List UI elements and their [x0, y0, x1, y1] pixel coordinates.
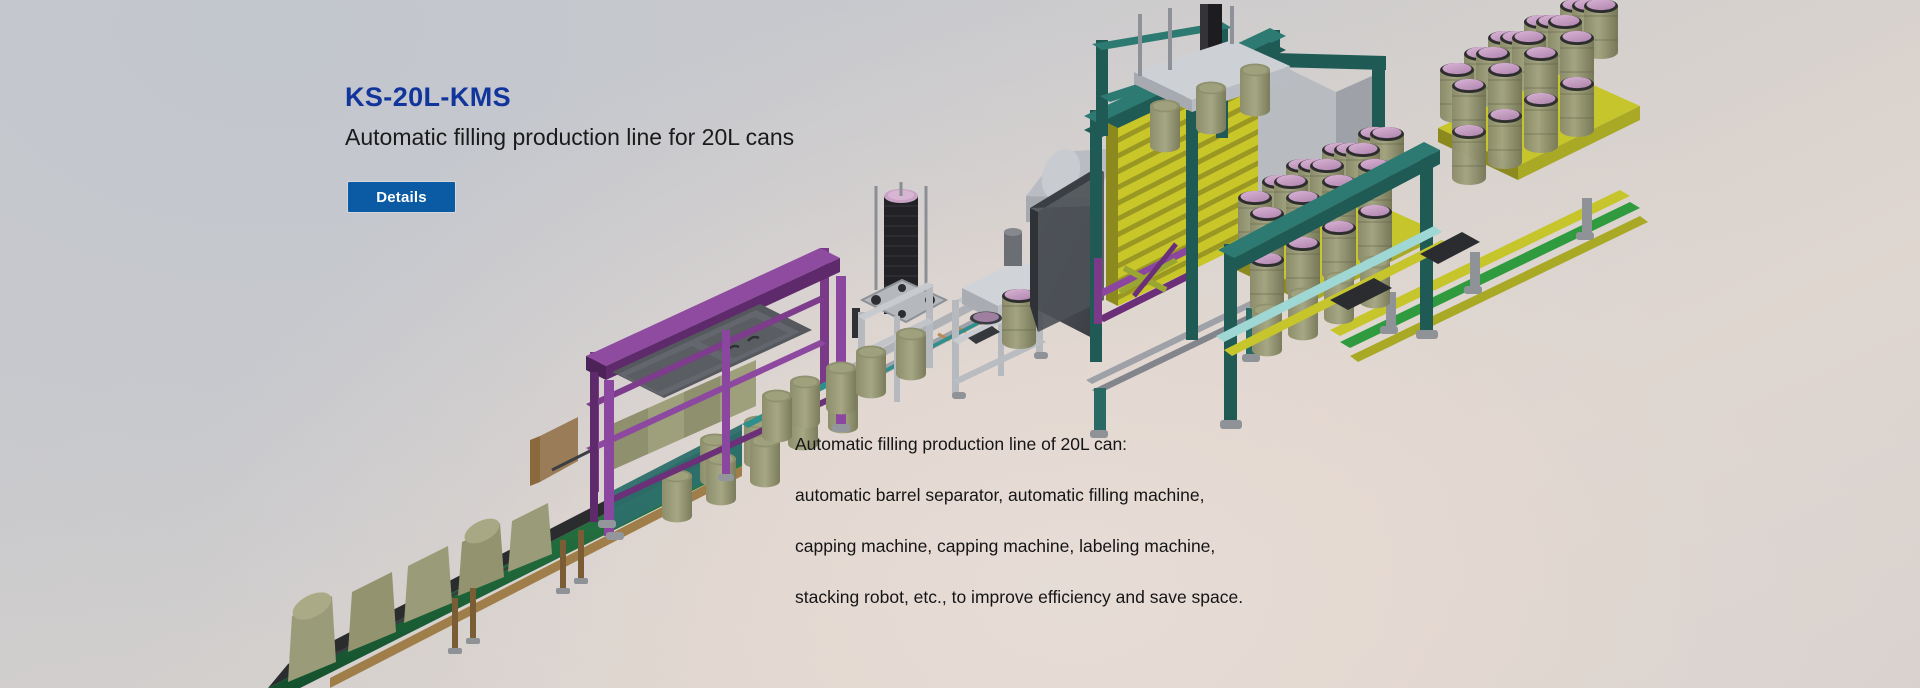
pallet-stack-far [1438, 0, 1640, 185]
station-pallet-magazine [1084, 28, 1372, 438]
page-subtitle: Automatic filling production line for 20… [345, 125, 794, 150]
station-filling-machine [826, 182, 1060, 414]
description-line-1: Automatic filling production line of 20L… [795, 432, 1243, 458]
description-line-2: automatic barrel separator, automatic fi… [795, 483, 1243, 509]
lid-stacker [852, 182, 946, 338]
palletized-stacks [1216, 0, 1648, 429]
description-line-3: capping machine, capping machine, labeli… [795, 534, 1243, 560]
infeed-guide [530, 417, 616, 486]
station-labeling-machine [1026, 143, 1120, 340]
description-block: Automatic filling production line of 20L… [795, 406, 1243, 636]
station-stacking-robot [1092, 4, 1386, 340]
description-line-4: stacking robot, etc., to improve efficie… [795, 585, 1243, 611]
page-title: KS-20L-KMS [345, 84, 794, 111]
product-banner: KS-20L-KMS Automatic filling production … [0, 0, 1920, 688]
details-button[interactable]: Details [348, 182, 455, 212]
pallet-stack-near [1232, 127, 1430, 357]
station-infeed-conveyor [268, 417, 742, 688]
headline-block: KS-20L-KMS Automatic filling production … [345, 84, 794, 150]
station-capping-machine [952, 228, 1056, 399]
